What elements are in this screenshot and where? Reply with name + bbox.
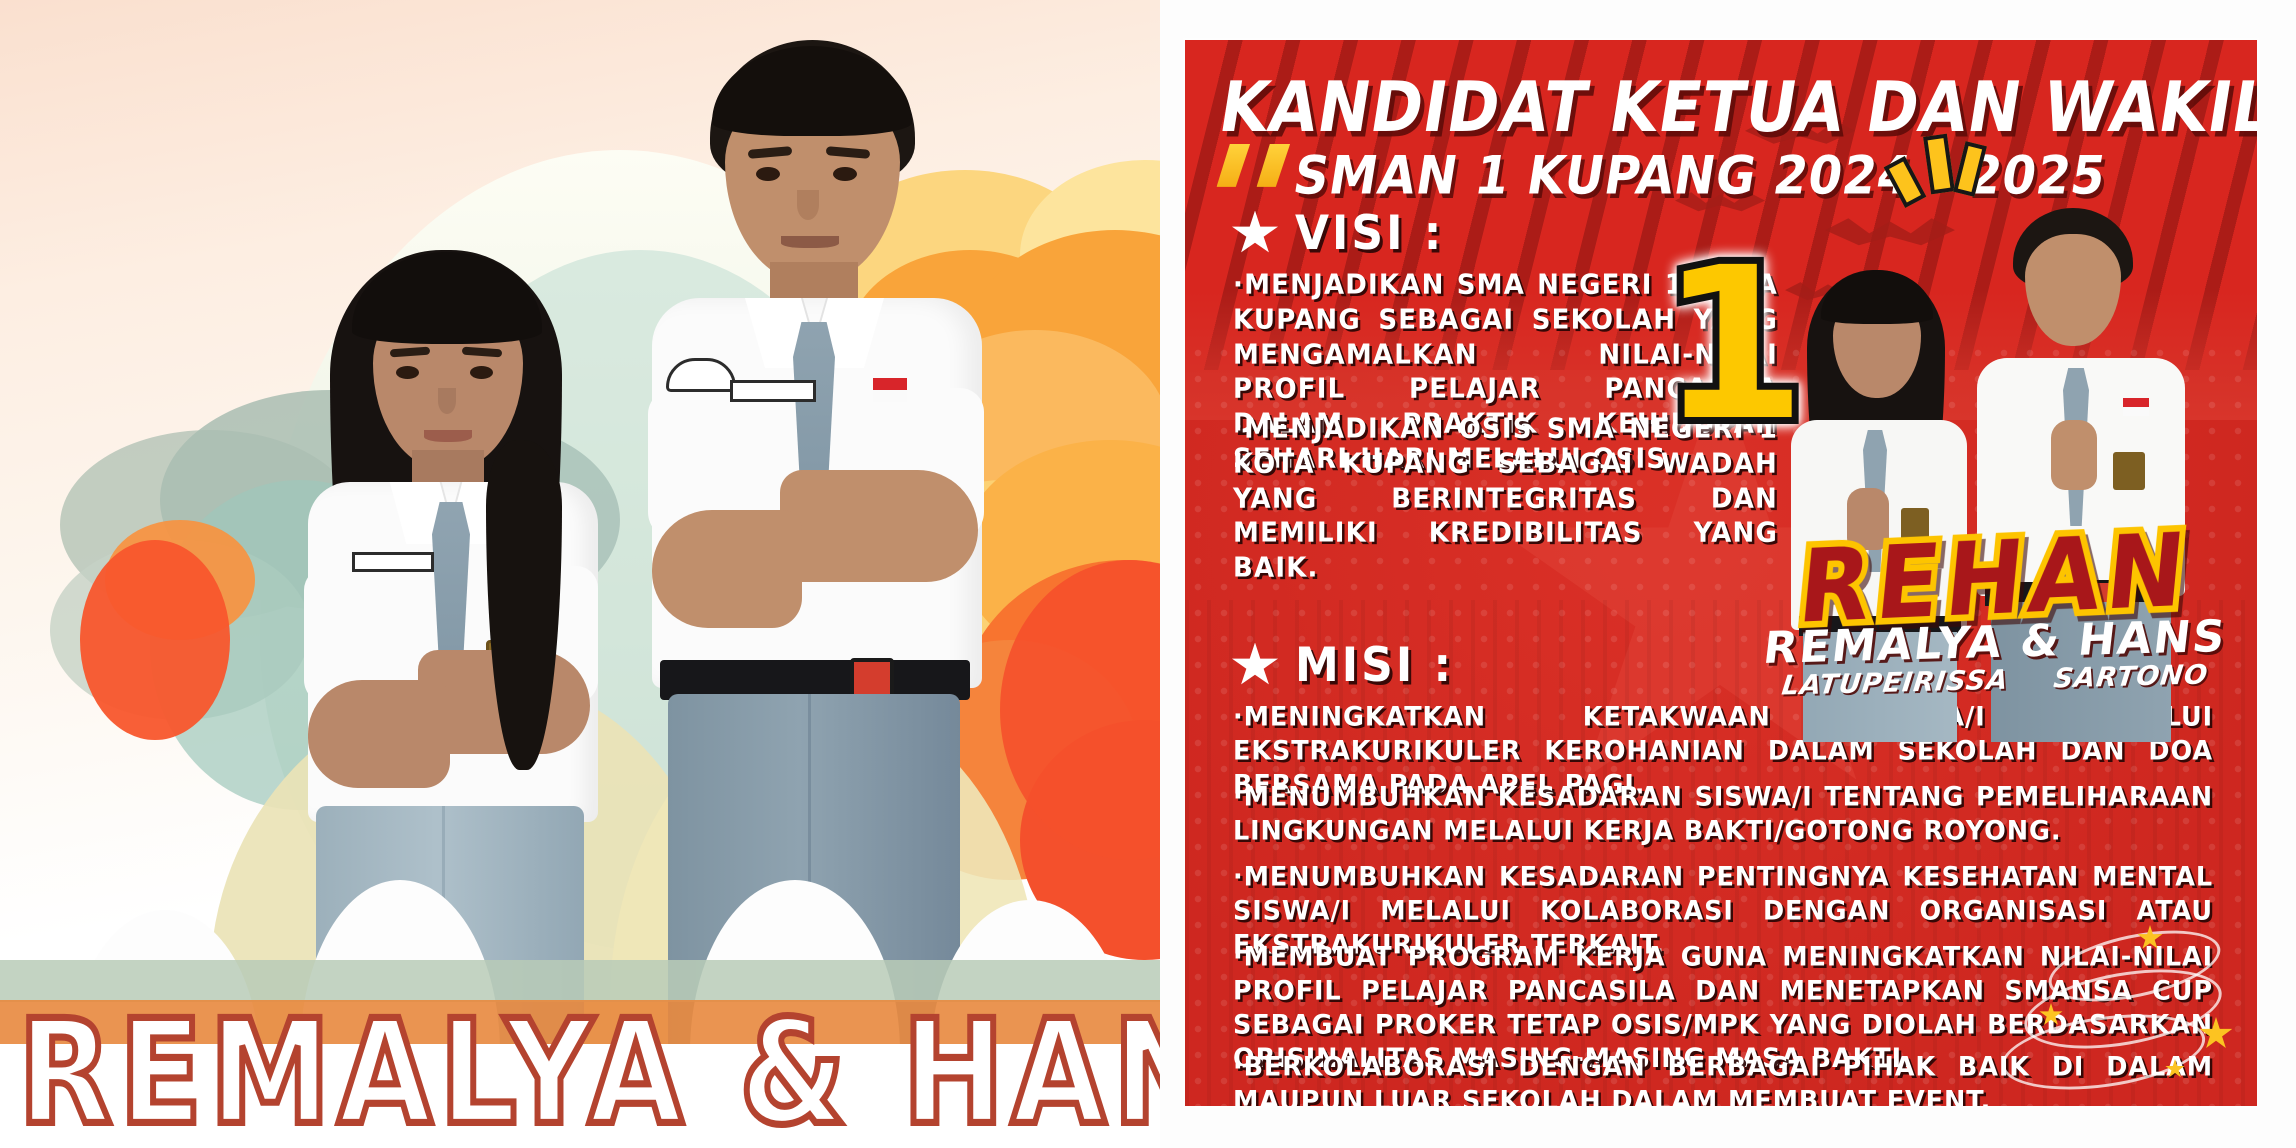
burst-decoration — [1875, 125, 1985, 205]
visi-label: VISI : — [1295, 206, 1444, 261]
exclamation-icon-2 — [1254, 144, 1290, 202]
misi-section-heading: MISI : — [1231, 640, 1454, 691]
candidate-boy-hand — [2051, 420, 2097, 490]
boy-mouth — [781, 236, 839, 248]
candidate-boy-face — [2025, 234, 2121, 346]
left-photo-panel: REMALYA & HANS — [0, 0, 1160, 1148]
poster-subline: SMAN 1 KUPANG 2024 - 2025 — [1289, 145, 2110, 207]
surname-right: SARTONO — [2052, 659, 2210, 694]
girl-name-tag — [352, 552, 434, 572]
boy-eye-left — [756, 167, 780, 181]
boy-flag-pin — [873, 378, 907, 402]
girl-eye-left — [396, 366, 419, 379]
star-icon-visi — [1231, 211, 1279, 257]
ticket-logo: REHAN REMALYA & HANS LATUPEIRISSA SARTON… — [1760, 525, 2230, 695]
burst-shard-2 — [1923, 134, 1955, 195]
girl-hair-front — [352, 252, 542, 344]
candidate-girl-fringe — [1821, 270, 1933, 324]
girl-arm-left — [308, 680, 450, 788]
boy-arm-left — [652, 510, 802, 628]
boy-hair-front — [712, 46, 912, 136]
burst-shard-1 — [1884, 156, 1927, 208]
candidate-boy-badge — [2113, 452, 2145, 490]
vision-mission-poster: KANDIDAT KETUA DAN WAKIL KETUA OSIS SMAN… — [1185, 40, 2257, 1106]
boy-eye-right — [833, 167, 857, 181]
boy-arm-right — [780, 470, 978, 582]
exclamation-icon-1 — [1214, 144, 1250, 202]
visi-section-heading: VISI : — [1231, 208, 1444, 259]
burst-shard-3 — [1953, 141, 1987, 197]
misi-label: MISI : — [1295, 638, 1454, 693]
cloud-red-small — [80, 540, 230, 740]
poster-canvas: REMALYA & HANS KANDIDAT KETUA DAN WAKIL … — [0, 0, 2296, 1148]
girl-nose — [438, 388, 456, 414]
girl-mouth — [424, 430, 472, 442]
misi-item-2: ·MENUMBUHKAN KESADARAN SISWA/I TENTANG P… — [1233, 780, 2213, 848]
boy-nose — [797, 190, 819, 220]
boy-name-tag — [730, 380, 816, 402]
surname-left: LATUPEIRISSA — [1780, 665, 2010, 702]
poster-headline: KANDIDAT KETUA DAN WAKIL KETUA OSIS — [1214, 66, 2227, 148]
swirl-decoration — [1987, 925, 2247, 1100]
girl-eye-right — [470, 366, 493, 379]
left-panel-title: REMALYA & HANS — [18, 982, 1048, 1148]
star-icon-misi — [1231, 643, 1279, 689]
candidate-boy-flag-pin — [2123, 398, 2149, 416]
